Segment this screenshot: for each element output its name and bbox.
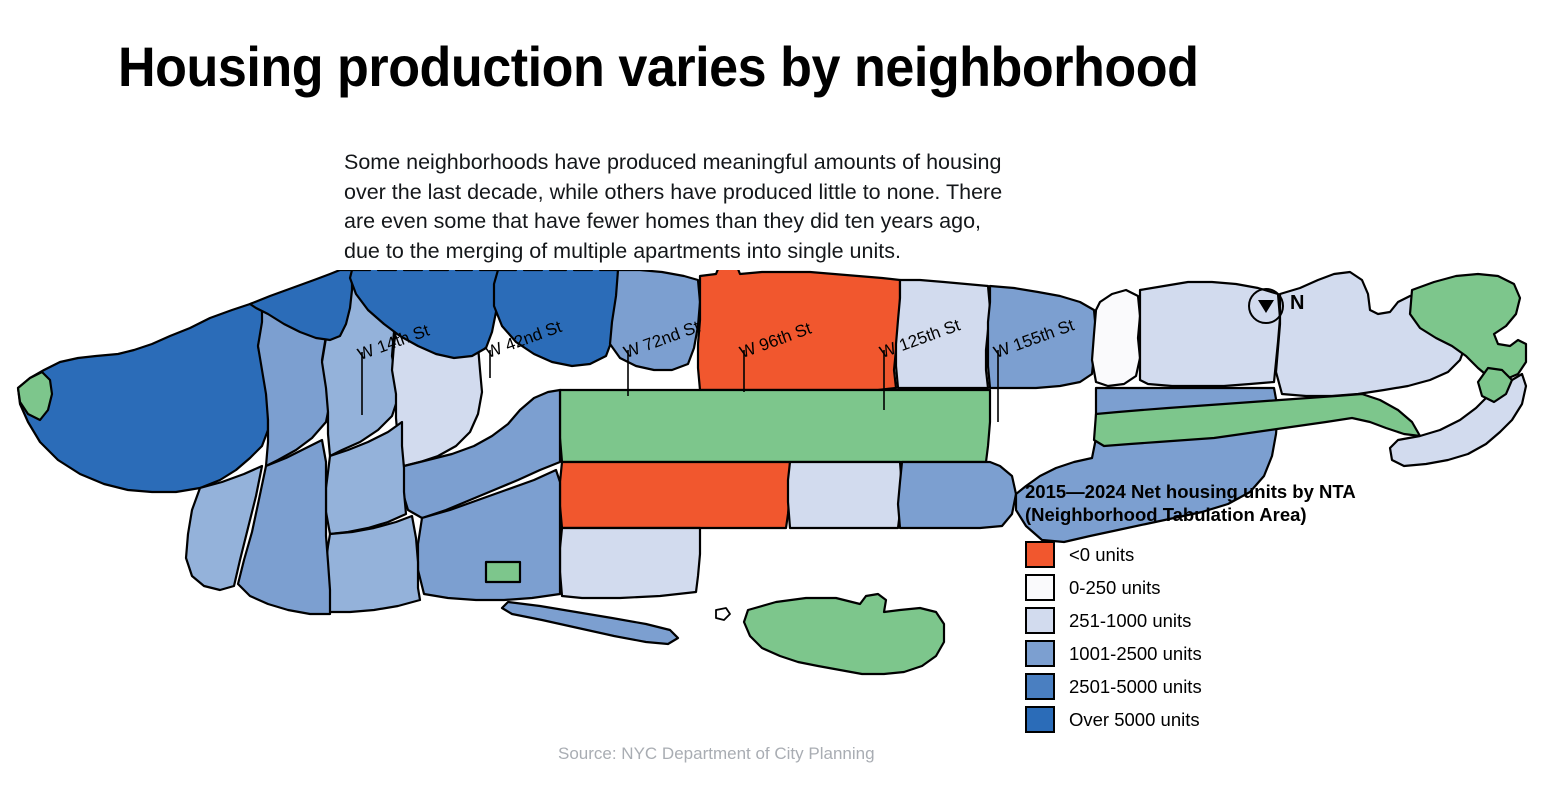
legend-title-line: 2015—2024 Net housing units by NTA	[1025, 480, 1425, 503]
description-line: due to the merging of multiple apartment…	[344, 237, 1134, 267]
source-attribution: Source: NYC Department of City Planning	[558, 744, 875, 764]
nta-region	[788, 462, 902, 528]
legend-swatch	[1025, 706, 1055, 733]
legend-item[interactable]: <0 units	[1025, 538, 1425, 571]
description-line: are even some that have fewer homes than…	[344, 207, 1134, 237]
legend-swatch	[1025, 640, 1055, 667]
nta-region-negative	[560, 462, 790, 528]
north-letter: N	[1290, 292, 1304, 315]
legend-title-line: (Neighborhood Tabulation Area)	[1025, 503, 1425, 526]
legend-swatch	[1025, 541, 1055, 568]
nta-region	[1092, 290, 1140, 386]
nta-region	[18, 300, 268, 492]
legend-label: 251-1000 units	[1069, 610, 1191, 632]
legend-items: <0 units 0-250 units 251-1000 units 1001…	[1025, 538, 1425, 736]
legend-swatch	[1025, 574, 1055, 601]
central-park-region	[560, 390, 990, 462]
islet-region	[716, 608, 730, 620]
nta-region	[238, 440, 330, 614]
legend-item[interactable]: 2501-5000 units	[1025, 670, 1425, 703]
legend-label: Over 5000 units	[1069, 709, 1200, 731]
north-arrow: N	[1248, 288, 1328, 328]
nta-region	[898, 462, 1016, 528]
map-legend: 2015—2024 Net housing units by NTA (Neig…	[1025, 480, 1425, 736]
randalls-island-region	[744, 594, 944, 674]
compass-needle-icon	[1258, 300, 1274, 313]
legend-item[interactable]: 0-250 units	[1025, 571, 1425, 604]
legend-item[interactable]: 251-1000 units	[1025, 604, 1425, 637]
roosevelt-island-region	[502, 602, 678, 644]
infographic-page: Housing production varies by neighborhoo…	[0, 0, 1550, 785]
page-title: Housing production varies by neighborhoo…	[118, 38, 1198, 97]
legend-swatch	[1025, 673, 1055, 700]
legend-label: 2501-5000 units	[1069, 676, 1202, 698]
legend-item[interactable]: 1001-2500 units	[1025, 637, 1425, 670]
park-region	[486, 562, 520, 582]
legend-label: <0 units	[1069, 544, 1134, 566]
description-paragraph: Some neighborhoods have produced meaning…	[344, 148, 1134, 266]
legend-swatch	[1025, 607, 1055, 634]
description-line: over the last decade, while others have …	[344, 178, 1134, 208]
nta-region	[560, 528, 700, 598]
legend-label: 1001-2500 units	[1069, 643, 1202, 665]
legend-item[interactable]: Over 5000 units	[1025, 703, 1425, 736]
legend-label: 0-250 units	[1069, 577, 1161, 599]
description-line: Some neighborhoods have produced meaning…	[344, 148, 1134, 178]
legend-title: 2015—2024 Net housing units by NTA (Neig…	[1025, 480, 1425, 526]
